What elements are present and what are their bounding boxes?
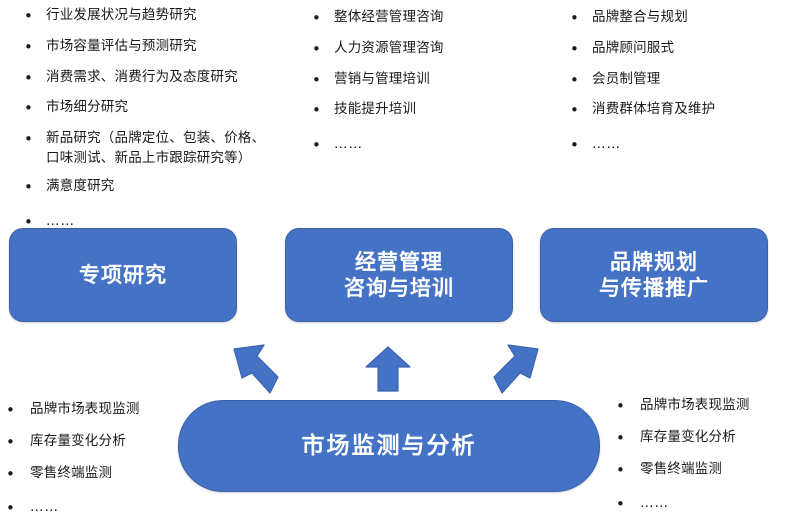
list-item-label: 技能提升培训 (334, 100, 416, 120)
bullet-dot-icon: • (616, 494, 640, 516)
service-box-label: 专项研究 (79, 262, 167, 288)
list-item: • 满意度研究 (24, 177, 304, 199)
bullet-list-monitor-right: • 品牌市场表现监测 • 库存量变化分析 • 零售终端监测 • …… (616, 396, 800, 526)
list-item: • 库存量变化分析 (6, 432, 186, 454)
list-item: • 整体经营管理咨询 (312, 8, 562, 30)
list-item: • 市场细分研究 (24, 98, 304, 120)
list-item-label: 库存量变化分析 (30, 432, 126, 452)
list-item-label: 消费群体培育及维护 (592, 100, 715, 120)
bullet-dot-icon: • (616, 428, 640, 450)
bullet-dot-icon: • (570, 70, 592, 92)
list-item-label: 人力资源管理咨询 (334, 39, 444, 59)
list-item: • …… (570, 135, 795, 157)
list-item: • 零售终端监测 (616, 460, 800, 482)
bullet-dot-icon: • (616, 460, 640, 482)
list-item-label: 品牌市场表现监测 (30, 400, 140, 420)
list-item-label: 库存量变化分析 (640, 428, 736, 448)
bullet-dot-icon: • (24, 129, 46, 151)
list-item: • 品牌整合与规划 (570, 8, 795, 30)
bullet-dot-icon: • (24, 177, 46, 199)
bullet-dot-icon: • (312, 135, 334, 157)
list-item-label: 会员制管理 (592, 70, 661, 90)
bullet-list-monitor-left: • 品牌市场表现监测 • 库存量变化分析 • 零售终端监测 • …… (6, 400, 186, 530)
bullet-dot-icon: • (24, 6, 46, 28)
service-pill-monitor[interactable]: 市场监测与分析 (178, 400, 600, 492)
service-box-label: 经营管理 咨询与培训 (344, 249, 454, 302)
list-item: • 消费需求、消费行为及态度研究 (24, 68, 304, 90)
list-item-label: …… (334, 135, 363, 155)
list-item-label: 整体经营管理咨询 (334, 8, 444, 28)
bullet-dot-icon: • (312, 39, 334, 61)
list-item: • 品牌市场表现监测 (6, 400, 186, 422)
list-item: • 市场容量评估与预测研究 (24, 37, 304, 59)
bullet-list-research: • 行业发展状况与趋势研究 • 市场容量评估与预测研究 • 消费需求、消费行为及… (24, 6, 304, 243)
list-item-label: 行业发展状况与趋势研究 (46, 6, 197, 26)
bullet-dot-icon: • (570, 135, 592, 157)
service-box-research[interactable]: 专项研究 (9, 228, 237, 322)
list-item: • 消费群体培育及维护 (570, 100, 795, 122)
list-item-label: 市场细分研究 (46, 98, 128, 118)
bullet-dot-icon: • (312, 70, 334, 92)
list-item: • …… (312, 135, 562, 157)
arrow-up-left-icon (232, 343, 284, 395)
services-diagram: • 行业发展状况与趋势研究 • 市场容量评估与预测研究 • 消费需求、消费行为及… (0, 0, 800, 526)
bullet-list-brand: • 品牌整合与规划 • 品牌顾问服式 • 会员制管理 • 消费群体培育及维护 •… (570, 8, 795, 166)
bullet-dot-icon: • (570, 100, 592, 122)
bullet-dot-icon: • (312, 100, 334, 122)
arrow-up-right-icon (488, 343, 540, 395)
bullet-list-management: • 整体经营管理咨询 • 人力资源管理咨询 • 营销与管理培训 • 技能提升培训… (312, 8, 562, 166)
list-item: • 营销与管理培训 (312, 70, 562, 92)
list-item-label: 品牌顾问服式 (592, 39, 674, 59)
bullet-dot-icon: • (570, 8, 592, 30)
list-item: • 品牌顾问服式 (570, 39, 795, 61)
list-item-label: 满意度研究 (46, 177, 115, 197)
bullet-dot-icon: • (6, 400, 30, 422)
bullet-dot-icon: • (24, 98, 46, 120)
list-item: • 行业发展状况与趋势研究 (24, 6, 304, 28)
list-item-label: 零售终端监测 (30, 464, 112, 484)
list-item-label: …… (640, 494, 669, 514)
list-item: • 零售终端监测 (6, 464, 186, 486)
list-item: • 技能提升培训 (312, 100, 562, 122)
service-pill-label: 市场监测与分析 (302, 432, 477, 461)
list-item-label: 消费需求、消费行为及态度研究 (46, 68, 238, 88)
list-item-label: 市场容量评估与预测研究 (46, 37, 197, 57)
list-item: • 人力资源管理咨询 (312, 39, 562, 61)
list-item: • …… (6, 498, 186, 520)
list-item: • 库存量变化分析 (616, 428, 800, 450)
service-box-brand[interactable]: 品牌规划 与传播推广 (540, 228, 768, 322)
list-item: • …… (616, 494, 800, 516)
list-item-label: …… (30, 498, 59, 518)
bullet-dot-icon: • (6, 432, 30, 454)
bullet-dot-icon: • (570, 39, 592, 61)
bullet-dot-icon: • (24, 37, 46, 59)
bullet-dot-icon: • (616, 396, 640, 418)
list-item-label: 品牌市场表现监测 (640, 396, 750, 416)
list-item: • 品牌市场表现监测 (616, 396, 800, 418)
bullet-dot-icon: • (6, 464, 30, 486)
service-box-management[interactable]: 经营管理 咨询与培训 (285, 228, 513, 322)
bullet-dot-icon: • (312, 8, 334, 30)
list-item-label: 营销与管理培训 (334, 70, 430, 90)
list-item-label: 零售终端监测 (640, 460, 722, 480)
service-box-label: 品牌规划 与传播推广 (599, 249, 709, 302)
arrow-up-icon (365, 345, 411, 393)
list-item-label: 新品研究（品牌定位、包装、价格、 口味测试、新品上市跟踪研究等） (46, 129, 265, 168)
list-item: • 会员制管理 (570, 70, 795, 92)
list-item: • 新品研究（品牌定位、包装、价格、 口味测试、新品上市跟踪研究等） (24, 129, 304, 168)
list-item-label: …… (592, 135, 621, 155)
bullet-dot-icon: • (6, 498, 30, 520)
list-item-label: 品牌整合与规划 (592, 8, 688, 28)
bullet-dot-icon: • (24, 68, 46, 90)
